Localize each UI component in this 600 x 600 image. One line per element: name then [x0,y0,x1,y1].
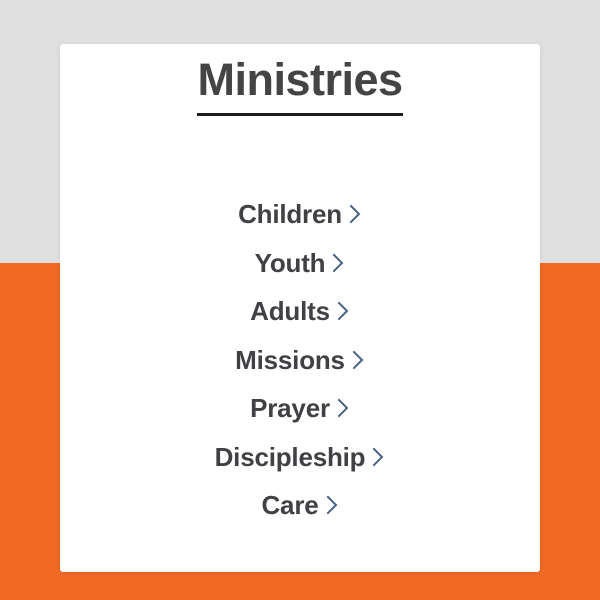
list-item[interactable]: Missions [60,336,540,385]
page-title: Ministries [197,56,402,116]
list-item[interactable]: Discipleship [60,433,540,482]
menu-link-missions[interactable]: Missions [235,347,365,373]
chevron-right-icon [352,349,365,371]
menu-item-label: Missions [235,347,345,373]
list-item[interactable]: Prayer [60,384,540,433]
menu-item-label: Care [261,492,318,518]
chevron-right-icon [337,397,350,419]
chevron-right-icon [332,252,345,274]
card-header: Ministries [60,56,540,116]
ministries-card: Ministries Children Youth [60,44,540,572]
menu-item-label: Adults [250,298,330,324]
page-root: Ministries Children Youth [0,0,600,600]
chevron-right-icon [337,300,350,322]
menu-link-discipleship[interactable]: Discipleship [215,444,386,470]
menu-link-children[interactable]: Children [238,201,362,227]
list-item[interactable]: Care [60,481,540,530]
chevron-right-icon [372,446,385,468]
menu-item-label: Youth [255,250,326,276]
list-item[interactable]: Children [60,190,540,239]
list-item[interactable]: Adults [60,287,540,336]
menu-item-label: Prayer [250,395,330,421]
chevron-right-icon [349,203,362,225]
menu-link-youth[interactable]: Youth [255,250,346,276]
chevron-right-icon [326,494,339,516]
menu-item-label: Discipleship [215,444,366,470]
menu-link-prayer[interactable]: Prayer [250,395,350,421]
menu-link-care[interactable]: Care [261,492,338,518]
ministries-menu: Children Youth [60,190,540,530]
menu-link-adults[interactable]: Adults [250,298,350,324]
menu-item-label: Children [238,201,342,227]
list-item[interactable]: Youth [60,239,540,288]
